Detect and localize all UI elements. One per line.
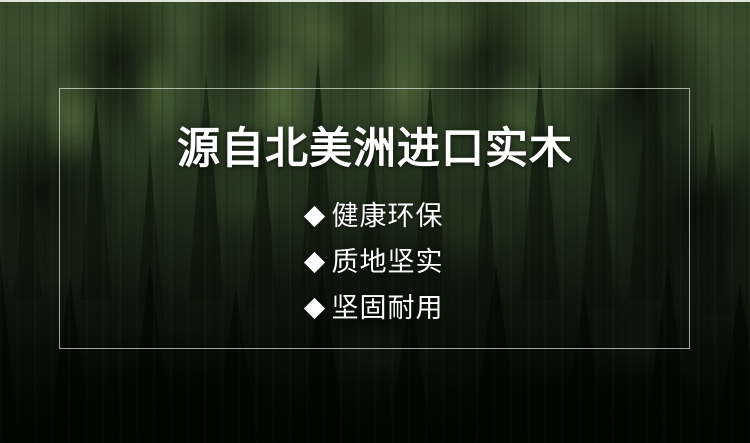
feature-item: 质地坚实 bbox=[307, 239, 444, 285]
banner-content: 源自北美洲进口实木 健康环保 质地坚实 坚固耐用 bbox=[0, 0, 750, 443]
feature-label: 健康环保 bbox=[332, 203, 444, 230]
diamond-bullet-icon bbox=[303, 205, 324, 226]
feature-label: 质地坚实 bbox=[332, 249, 444, 276]
diamond-bullet-icon bbox=[303, 297, 324, 318]
feature-item: 坚固耐用 bbox=[307, 285, 444, 331]
product-hero-banner: 源自北美洲进口实木 健康环保 质地坚实 坚固耐用 bbox=[0, 0, 750, 443]
feature-list: 健康环保 质地坚实 坚固耐用 bbox=[307, 193, 444, 331]
diamond-bullet-icon bbox=[303, 251, 324, 272]
feature-label: 坚固耐用 bbox=[332, 295, 444, 322]
feature-item: 健康环保 bbox=[307, 193, 444, 239]
banner-headline: 源自北美洲进口实木 bbox=[177, 128, 573, 171]
